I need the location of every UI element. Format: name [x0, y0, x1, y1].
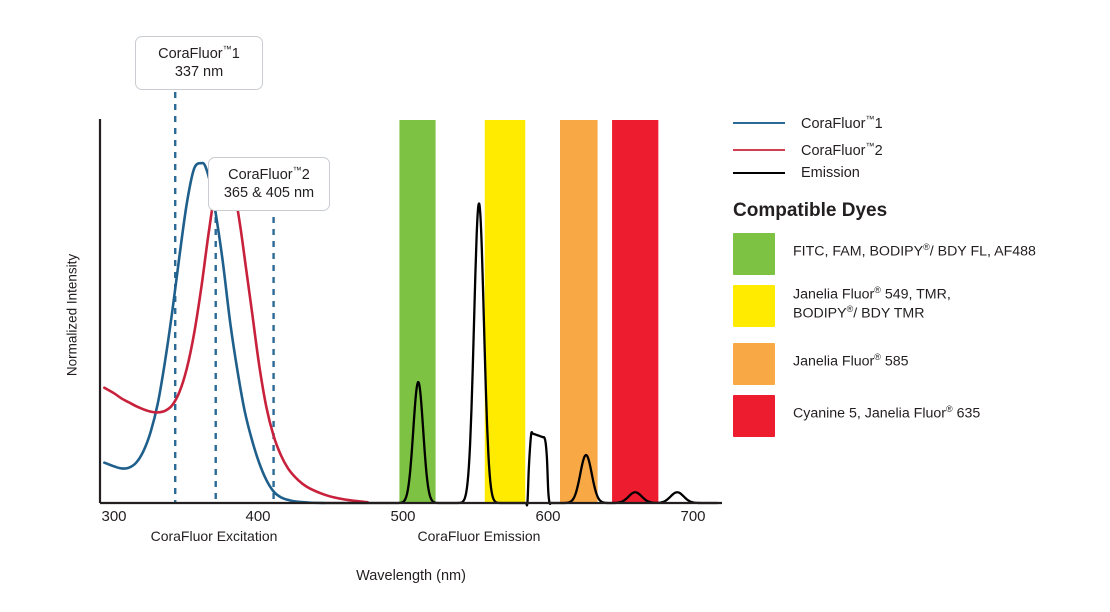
- green-band: [399, 120, 435, 503]
- dye-swatch-red: [733, 395, 775, 437]
- dye-row-orange: Janelia Fluor® 585: [733, 343, 909, 385]
- dye-label-green: FITC, FAM, BODIPY®/ BDY FL, AF488: [793, 233, 1036, 261]
- legend-line-corafluor2: [733, 149, 785, 151]
- callout2-line1: CoraFluor™2: [221, 165, 317, 185]
- red-band: [612, 120, 658, 503]
- x-tick-300: 300: [101, 508, 126, 525]
- dye-label-yellow: Janelia Fluor® 549, TMR, BODIPY®/ BDY TM…: [793, 285, 951, 324]
- dye-row-green: FITC, FAM, BODIPY®/ BDY FL, AF488: [733, 233, 1036, 275]
- trademark-symbol: ™: [865, 114, 874, 124]
- legend-panel: CoraFluor™1 CoraFluor™2 Emission Compati…: [733, 0, 1110, 612]
- legend-item-emission: Emission: [733, 165, 860, 181]
- excitation-axis-label: CoraFluor Excitation: [151, 528, 278, 544]
- dye-label-orange: Janelia Fluor® 585: [793, 343, 909, 371]
- x-tick-500: 500: [390, 508, 415, 525]
- registered-symbol: ®: [874, 285, 881, 295]
- registered-symbol: ®: [847, 304, 854, 314]
- legend-label-emission: Emission: [801, 165, 860, 181]
- callout-corafluor2: CoraFluor™2 365 & 405 nm: [208, 157, 330, 211]
- legend-item-corafluor2: CoraFluor™2: [733, 141, 883, 159]
- orange-band: [560, 120, 598, 503]
- callout-corafluor1: CoraFluor™1 337 nm: [135, 36, 263, 90]
- y-axis-title-wrap: Normalized Intensity: [60, 230, 84, 400]
- dye-row-red: Cyanine 5, Janelia Fluor® 635: [733, 395, 980, 437]
- dye-swatch-yellow: [733, 285, 775, 327]
- registered-symbol: ®: [874, 352, 881, 362]
- callout1-line1: CoraFluor™1: [148, 44, 250, 64]
- callout2-line2: 365 & 405 nm: [221, 185, 317, 203]
- trademark-symbol: ™: [865, 141, 874, 151]
- compatible-dyes-title: Compatible Dyes: [733, 200, 887, 222]
- dye-swatch-green: [733, 233, 775, 275]
- spectral-chart-page: Normalized Intensity 300 400 500 600 700…: [0, 0, 1110, 612]
- emission-band-group: [399, 120, 658, 503]
- registered-symbol: ®: [946, 404, 953, 414]
- legend-label-corafluor2: CoraFluor™2: [801, 141, 883, 159]
- trademark-symbol: ™: [293, 165, 302, 175]
- emission-axis-label: CoraFluor Emission: [418, 528, 541, 544]
- chart-plot-area: Normalized Intensity 300 400 500 600 700…: [0, 0, 740, 612]
- registered-symbol: ®: [923, 242, 930, 252]
- dye-swatch-orange: [733, 343, 775, 385]
- legend-item-corafluor1: CoraFluor™1: [733, 114, 883, 132]
- callout1-line2: 337 nm: [148, 64, 250, 82]
- dye-row-yellow: Janelia Fluor® 549, TMR, BODIPY®/ BDY TM…: [733, 285, 951, 327]
- x-tick-700: 700: [680, 508, 705, 525]
- y-axis-title: Normalized Intensity: [65, 254, 80, 376]
- x-tick-400: 400: [245, 508, 270, 525]
- legend-line-emission: [733, 172, 785, 174]
- legend-label-corafluor1: CoraFluor™1: [801, 114, 883, 132]
- excitation-dashed-lines: [175, 92, 273, 503]
- curve-corafluor1: [104, 163, 324, 503]
- x-tick-600: 600: [535, 508, 560, 525]
- legend-line-corafluor1: [733, 122, 785, 124]
- dye-label-red: Cyanine 5, Janelia Fluor® 635: [793, 395, 980, 423]
- x-axis-title: Wavelength (nm): [356, 568, 466, 584]
- yellow-band: [485, 120, 526, 503]
- trademark-symbol: ™: [223, 44, 232, 54]
